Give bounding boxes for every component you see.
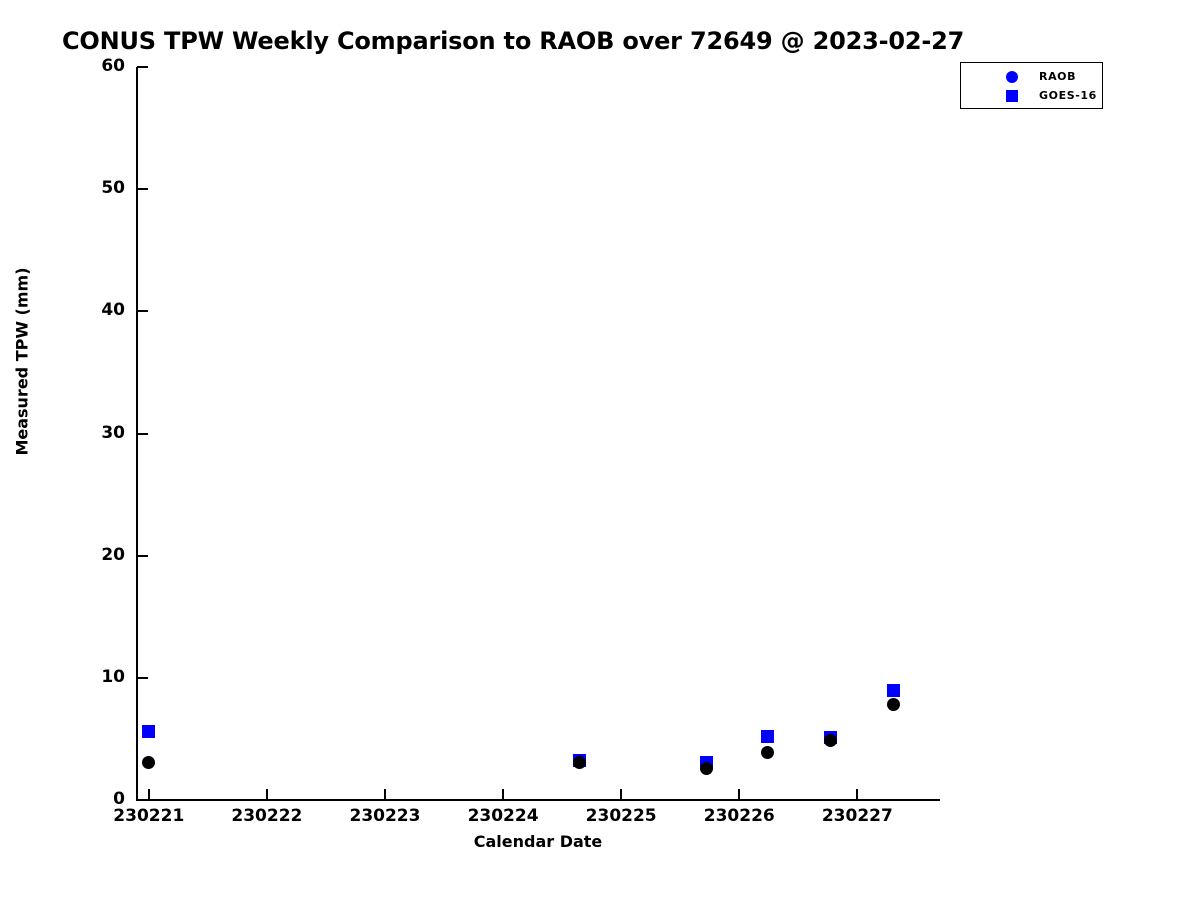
data-point-raob bbox=[761, 746, 774, 759]
y-tick-label: 60 bbox=[65, 56, 125, 76]
x-tick-label: 230221 bbox=[89, 806, 209, 826]
y-tick-label: 20 bbox=[65, 545, 125, 565]
data-point-raob bbox=[142, 756, 155, 769]
x-tick-label: 230226 bbox=[679, 806, 799, 826]
y-tick-label: 40 bbox=[65, 300, 125, 320]
x-tick-label: 230222 bbox=[207, 806, 327, 826]
legend-item-goes16: GOES-16 bbox=[961, 86, 1102, 106]
y-tick-label: 30 bbox=[65, 423, 125, 443]
x-tick-label: 230227 bbox=[797, 806, 917, 826]
legend-label-raob: RAOB bbox=[1039, 70, 1076, 83]
data-point-raob bbox=[573, 756, 586, 769]
x-tick-label: 230223 bbox=[325, 806, 445, 826]
y-tick-label: 10 bbox=[65, 667, 125, 687]
x-tick-label: 230224 bbox=[443, 806, 563, 826]
x-axis-label: Calendar Date bbox=[0, 832, 1076, 851]
y-axis-label: Measured TPW (mm) bbox=[13, 212, 32, 512]
legend-circle-icon bbox=[1005, 67, 1021, 87]
data-point-goes-16 bbox=[887, 684, 900, 697]
raob-marker-swatch bbox=[1006, 71, 1018, 83]
goes-marker-swatch bbox=[1006, 90, 1018, 102]
data-point-goes-16 bbox=[142, 725, 155, 738]
chart-legend: RAOB GOES-16 bbox=[960, 62, 1103, 109]
y-tick-label: 50 bbox=[65, 178, 125, 198]
data-point-raob bbox=[887, 698, 900, 711]
data-point-raob bbox=[824, 734, 837, 747]
chart-figure: CONUS TPW Weekly Comparison to RAOB over… bbox=[0, 0, 1200, 900]
data-point-raob bbox=[700, 762, 713, 775]
legend-square-icon bbox=[1005, 86, 1021, 106]
legend-item-raob: RAOB bbox=[961, 67, 1102, 87]
plot-area bbox=[137, 67, 940, 800]
data-point-goes-16 bbox=[761, 730, 774, 743]
x-tick-label: 230225 bbox=[561, 806, 681, 826]
legend-label-goes16: GOES-16 bbox=[1039, 89, 1097, 102]
page-title: CONUS TPW Weekly Comparison to RAOB over… bbox=[62, 27, 964, 55]
